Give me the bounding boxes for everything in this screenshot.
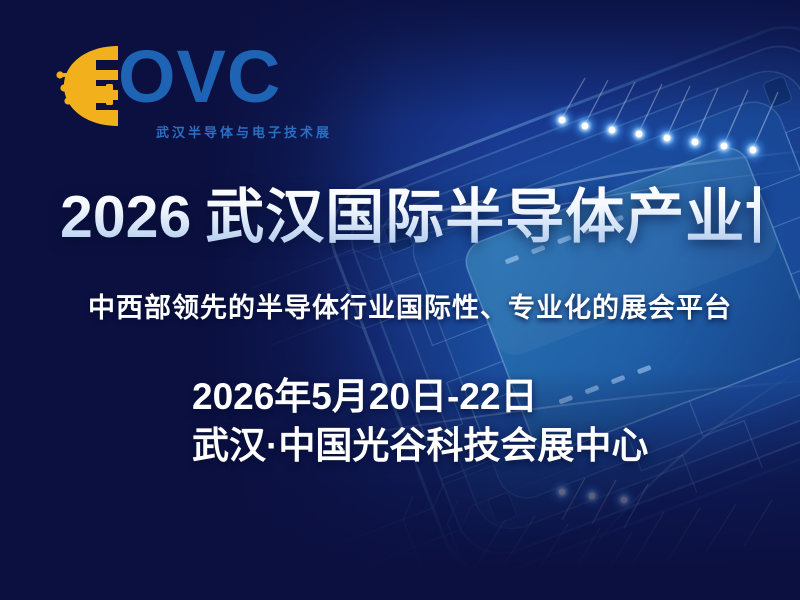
ovc-logo-subtitle: 武汉半导体与电子技术展 xyxy=(156,122,332,141)
page-subtitle: 中西部领先的半导体行业国际性、专业化的展会平台 xyxy=(88,292,728,324)
title-main: 武汉国际半导体产业博览会 xyxy=(205,184,800,250)
ovc-wordmark: OVC xyxy=(118,40,281,114)
title-year: 2026 xyxy=(60,184,191,250)
event-date: 2026年5月20日-22日 xyxy=(192,374,648,420)
event-venue: 武汉·中国光谷科技会展中心 xyxy=(192,420,648,472)
poster-banner: OVC 武汉半导体与电子技术展 2026武汉国际半导体产业博览会 中西部领先的半… xyxy=(0,0,800,600)
event-info: 2026年5月20日-22日 武汉·中国光谷科技会展中心 xyxy=(192,374,648,472)
ovc-logo[interactable]: OVC 武汉半导体与电子技术展 xyxy=(56,44,266,144)
page-title: 2026武汉国际半导体产业博览会 xyxy=(60,182,760,252)
